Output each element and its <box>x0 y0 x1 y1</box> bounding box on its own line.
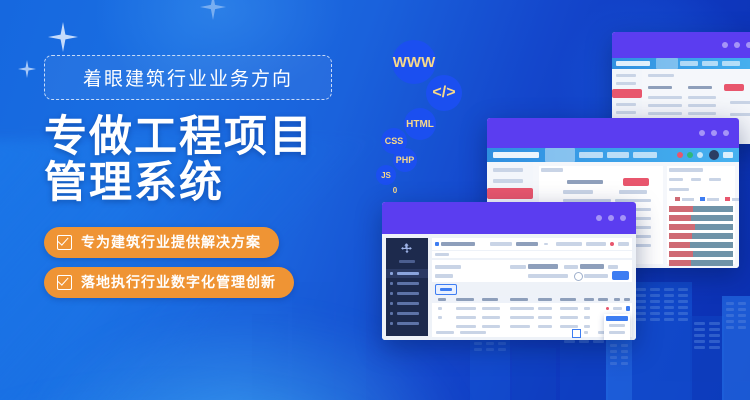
feature-badge-label: 落地执行行业数字化管理创新 <box>81 272 276 292</box>
nav-tab-active[interactable] <box>516 242 538 246</box>
window-dot[interactable] <box>723 130 729 136</box>
building <box>512 348 556 400</box>
page-title: 专做工程项目 管理系统 <box>44 114 374 207</box>
building <box>722 296 750 400</box>
filter-label <box>608 265 618 269</box>
breadcrumb <box>432 251 632 258</box>
dropdown-item-active[interactable] <box>606 316 628 321</box>
next-page-button[interactable] <box>584 331 588 334</box>
add-button[interactable] <box>435 284 457 295</box>
nav-tab[interactable] <box>607 152 629 158</box>
nav-tab[interactable] <box>586 242 606 246</box>
nav-tab[interactable] <box>579 152 603 158</box>
window-controls[interactable] <box>596 215 626 221</box>
sidebar-item-active[interactable] <box>386 269 428 278</box>
tech-bubble-zero: 0 <box>388 183 402 197</box>
sidebar-item[interactable] <box>386 319 428 328</box>
table-row[interactable] <box>432 314 632 321</box>
promo-banner: WWW </> HTML CSS PHP JS 0 <box>0 0 750 400</box>
window-dot[interactable] <box>711 130 717 136</box>
window-dot[interactable] <box>620 215 626 221</box>
window-controls[interactable] <box>722 42 750 48</box>
notification-badge[interactable] <box>610 242 614 246</box>
window-body <box>382 234 636 340</box>
row-action-icon[interactable] <box>626 306 630 311</box>
window-titlebar <box>612 32 750 58</box>
window-primary-button[interactable] <box>724 84 744 91</box>
status-icon[interactable] <box>687 152 693 158</box>
building <box>470 330 510 400</box>
pagination-total <box>436 331 454 334</box>
window-sidebar[interactable] <box>386 238 428 336</box>
tech-bubble-label: CSS <box>385 136 404 146</box>
sidebar-selected-item[interactable] <box>612 89 642 98</box>
window-titlebar <box>382 202 636 234</box>
filter-bar <box>432 260 632 282</box>
pagination[interactable] <box>432 328 632 337</box>
filter-label <box>564 265 578 269</box>
nav-tab[interactable] <box>490 242 512 246</box>
dropdown-item[interactable] <box>609 324 625 327</box>
window-controls[interactable] <box>699 130 729 136</box>
table-row[interactable] <box>432 305 632 312</box>
window-titlebar <box>487 118 739 148</box>
sparkle-icon <box>18 60 36 78</box>
bell-icon[interactable] <box>697 152 703 158</box>
sparkle-icon <box>48 22 78 52</box>
tech-bubble-html: HTML <box>404 108 436 140</box>
window-dot[interactable] <box>699 130 705 136</box>
nav-tab[interactable] <box>556 242 582 246</box>
tech-bubble-js: JS <box>376 165 396 185</box>
dropdown-item[interactable] <box>609 331 625 334</box>
alert-icon[interactable] <box>677 152 683 158</box>
filter-label <box>435 265 461 269</box>
tech-bubble-label: JS <box>381 171 391 180</box>
sidebar-selected-item[interactable] <box>487 188 533 199</box>
feature-badge-label: 专为建筑行业提供解决方案 <box>81 232 261 252</box>
headline-line-1: 专做工程项目 <box>44 114 374 160</box>
window-dot[interactable] <box>722 42 728 48</box>
filter-select[interactable] <box>528 264 558 269</box>
chart-panel <box>667 166 735 264</box>
tech-bubble-label: </> <box>432 84 455 102</box>
window-brand <box>493 152 539 158</box>
chevron-down-icon[interactable] <box>544 243 548 245</box>
dashboard-window-front[interactable] <box>382 202 636 340</box>
bar-chart <box>669 206 733 266</box>
sidebar-item[interactable] <box>386 309 428 318</box>
sidebar-item[interactable] <box>386 289 428 298</box>
sidebar-item[interactable] <box>386 279 428 288</box>
banner-copy: 着眼建筑行业业务方向 专做工程项目 管理系统 专为建筑行业提供解决方案 落地执行… <box>44 55 374 307</box>
feature-badge-1[interactable]: 专为建筑行业提供解决方案 <box>44 227 279 258</box>
user-menu[interactable] <box>618 242 629 246</box>
tech-bubble-label: 0 <box>393 186 397 195</box>
page-number-button[interactable] <box>572 329 581 338</box>
refresh-icon[interactable] <box>574 272 583 281</box>
feature-badge-list: 专为建筑行业提供解决方案 落地执行行业数字化管理创新 <box>44 227 374 298</box>
window-dot[interactable] <box>596 215 602 221</box>
user-label[interactable] <box>723 152 733 158</box>
building <box>690 316 724 400</box>
tech-bubble-label: HTML <box>406 119 434 130</box>
tech-bubble-label: PHP <box>396 155 415 165</box>
feature-badge-2[interactable]: 落地执行行业数字化管理创新 <box>44 267 294 298</box>
nav-tab-active[interactable] <box>545 148 575 162</box>
tech-bubble-code: </> <box>426 75 462 111</box>
window-brand <box>441 242 475 246</box>
chart-title <box>669 168 703 172</box>
tech-bubble-php: PHP <box>393 148 417 172</box>
checkbox-checked-icon <box>57 275 72 290</box>
window-dot[interactable] <box>746 42 750 48</box>
list-action-button[interactable] <box>623 178 649 186</box>
sidebar-item[interactable] <box>386 299 428 308</box>
building <box>632 282 692 400</box>
building <box>252 314 288 400</box>
avatar[interactable] <box>709 150 719 160</box>
logo-icon <box>401 243 414 256</box>
window-navbar <box>612 58 750 69</box>
search-button[interactable] <box>612 271 629 280</box>
window-dot[interactable] <box>608 215 614 221</box>
nav-tab[interactable] <box>633 152 657 158</box>
tech-bubble-label: WWW <box>393 54 435 71</box>
window-dot[interactable] <box>734 42 740 48</box>
context-dropdown[interactable] <box>604 314 630 340</box>
status-dot <box>606 307 609 310</box>
headline-line-2: 管理系统 <box>44 160 374 206</box>
filter-label <box>510 265 526 269</box>
building <box>606 338 632 400</box>
sparkle-icon <box>200 0 226 20</box>
table-header-row <box>432 296 632 303</box>
chart-legend <box>675 197 739 201</box>
checkbox-checked-icon <box>57 235 72 250</box>
filter-select[interactable] <box>580 264 604 269</box>
subtitle-text: 着眼建筑行业业务方向 <box>83 64 293 91</box>
window-topbar <box>432 238 632 250</box>
brand-icon <box>435 242 439 246</box>
tech-bubble-www: WWW <box>392 40 436 84</box>
subtitle-box: 着眼建筑行业业务方向 <box>44 55 332 100</box>
window-navbar <box>487 148 739 162</box>
